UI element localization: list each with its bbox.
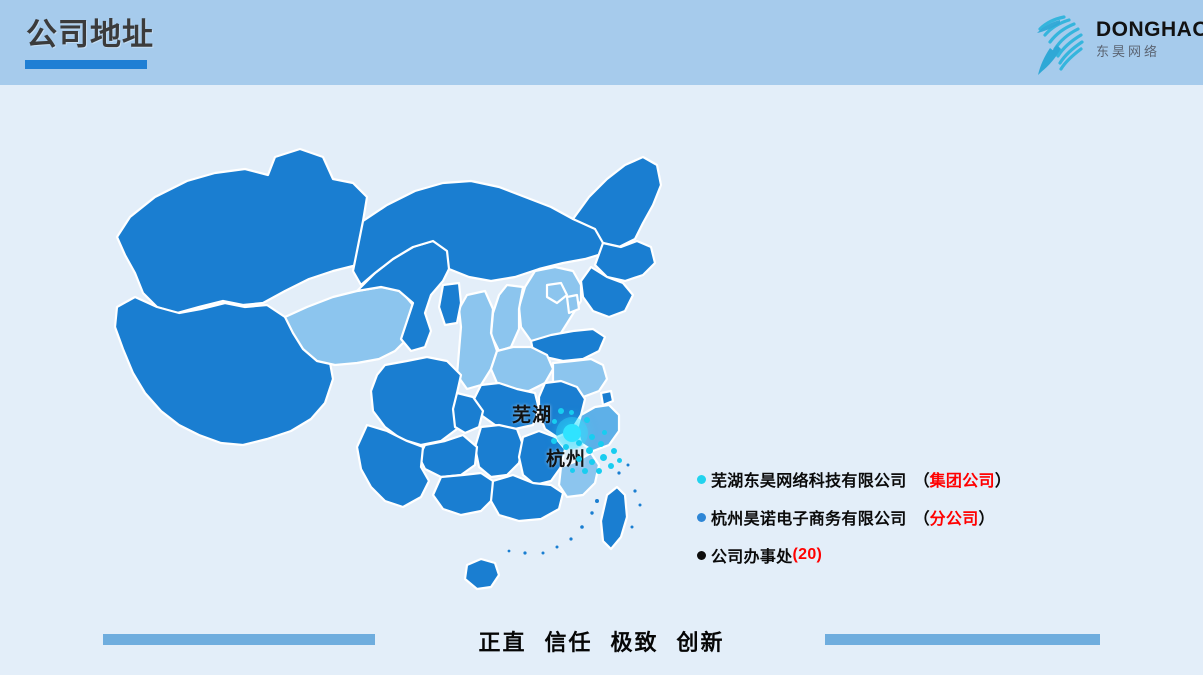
map-marker-office[interactable]: [576, 456, 582, 462]
header-band: 公司地址: [0, 0, 1203, 85]
slogan-word-1: 正直: [478, 625, 526, 657]
map-marker-office[interactable]: [589, 459, 595, 465]
title-underline: [25, 60, 147, 69]
legend-item-group-company[interactable]: 芜湖东昊网络科技有限公司 （ 集团公司 ）: [697, 460, 1117, 498]
legend-bullet-icon: [697, 475, 706, 484]
map-marker-office[interactable]: [582, 468, 588, 474]
china-map: [95, 135, 695, 615]
legend-close-paren: ）: [995, 467, 1011, 491]
legend-open-paren: （: [914, 467, 930, 491]
legend-company-name: 芜湖东昊网络科技有限公司: [711, 467, 907, 491]
brand-logo: DONGHAO 东昊网络: [1018, 6, 1193, 78]
logo-name-cn: 东昊网络: [1096, 43, 1194, 61]
map-marker-office[interactable]: [586, 447, 593, 454]
page-title: 公司地址: [26, 16, 154, 54]
legend-company-name: 公司办事处: [711, 543, 793, 567]
map-marker-office[interactable]: [551, 438, 557, 444]
legend-office-count: (20): [793, 546, 823, 564]
slide-canvas: 公司地址: [0, 0, 1203, 675]
map-marker-office[interactable]: [598, 441, 604, 447]
feather-wing-icon: [1030, 8, 1102, 76]
legend-close-paren: ）: [979, 505, 995, 529]
legend-item-offices[interactable]: 公司办事处 (20): [697, 536, 1117, 574]
map-marker-office[interactable]: [576, 440, 582, 446]
map-marker-office[interactable]: [589, 434, 595, 440]
logo-name-en: DONGHAO: [1096, 18, 1194, 42]
legend-company-tag: 集团公司: [930, 467, 995, 491]
map-marker-office[interactable]: [596, 468, 602, 474]
legend-company-name: 杭州昊诺电子商务有限公司: [711, 505, 907, 529]
logo-text: DONGHAO 东昊网络: [1096, 18, 1194, 61]
map-marker-office[interactable]: [558, 408, 564, 414]
slogan-word-3: 极致: [611, 625, 659, 657]
footer-slogan: 正直信任极致创新: [0, 625, 1203, 657]
map-marker-office[interactable]: [563, 444, 569, 450]
legend-bullet-icon: [697, 551, 706, 560]
legend: 芜湖东昊网络科技有限公司 （ 集团公司 ） 杭州昊诺电子商务有限公司 （ 分公司…: [697, 460, 1117, 574]
slogan-word-4: 创新: [677, 625, 725, 657]
map-marker-office[interactable]: [569, 410, 574, 415]
legend-company-tag: 分公司: [930, 505, 979, 529]
map-label-wuhu: 芜湖: [512, 400, 552, 427]
map-marker-office[interactable]: [611, 448, 617, 454]
map-marker-office[interactable]: [600, 454, 607, 461]
map-marker-office[interactable]: [584, 417, 590, 423]
slogan-word-2: 信任: [544, 625, 592, 657]
map-marker-office[interactable]: [602, 430, 607, 435]
legend-bullet-icon: [697, 513, 706, 522]
map-marker-office[interactable]: [617, 458, 622, 463]
map-marker-office[interactable]: [552, 419, 557, 424]
legend-item-branch-company[interactable]: 杭州昊诺电子商务有限公司 （ 分公司 ）: [697, 498, 1117, 536]
map-marker-office[interactable]: [570, 468, 575, 473]
legend-open-paren: （: [914, 505, 930, 529]
map-marker-office[interactable]: [608, 463, 614, 469]
